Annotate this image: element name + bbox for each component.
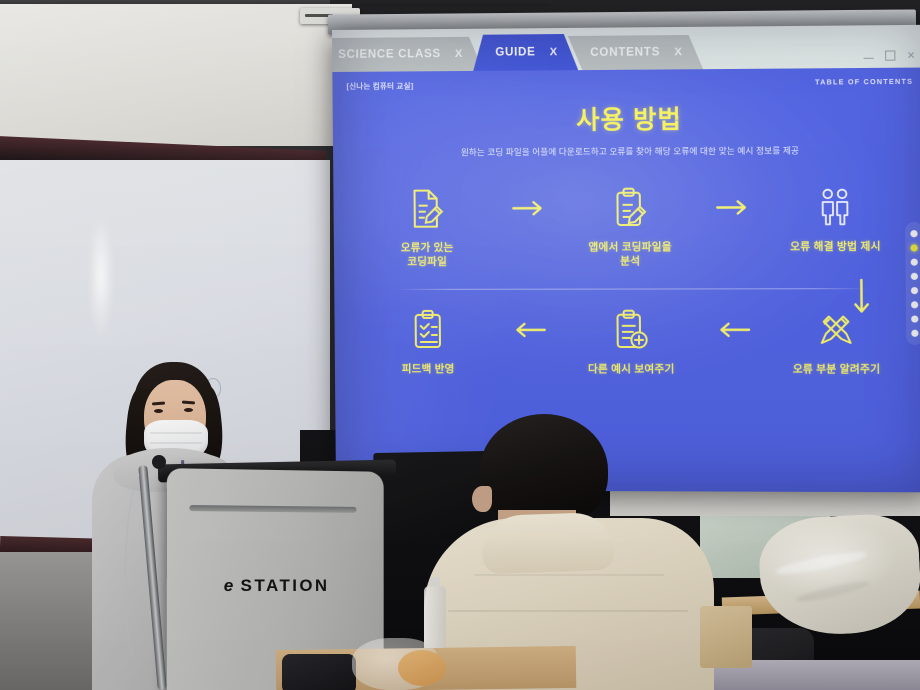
step-suggest-solution: 오류 해결 방법 제시 — [774, 180, 896, 254]
step-error-coding-file: 오류가 있는코딩파일 — [367, 182, 486, 269]
slide-subtitle: 원하는 코딩 파일을 어플에 다운로드하고 오류를 찾아 해당 오류에 대한 맞… — [333, 144, 920, 159]
step-apply-feedback: 피드백 반영 — [368, 304, 487, 376]
step-apply-feedback-label: 피드백 반영 — [369, 362, 488, 376]
tab-guide-label: GUIDE — [495, 46, 535, 58]
step-suggest-solution-label: 오류 해결 방법 제시 — [775, 239, 896, 254]
dot-2-active[interactable] — [910, 244, 917, 251]
tab-contents[interactable]: CONTENTS X — [568, 35, 703, 70]
step-analyze-in-app: 앱에서 코딩파일을분석 — [570, 181, 691, 268]
tab-contents-label: CONTENTS — [590, 46, 660, 59]
dot-4[interactable] — [911, 273, 918, 280]
step-point-out-error: 오류 부분 알려주기 — [775, 304, 897, 377]
step-show-other-examples: 다른 예시 보여주기 — [571, 304, 691, 377]
app-window: SCIENCE CLASS X GUIDE X CONTENTS X × [신나… — [332, 25, 920, 493]
window-controls: × — [864, 48, 920, 68]
arrow-right-1-icon — [506, 182, 551, 234]
slide-guide: [신나는 컴퓨터 교실] TABLE OF CONTENTS 사용 방법 원하는… — [332, 67, 920, 492]
slide-title: 사용 방법 — [333, 98, 920, 138]
dot-3[interactable] — [911, 259, 918, 266]
arrow-left-1-icon — [507, 304, 552, 356]
close-icon[interactable]: × — [907, 48, 915, 61]
dot-8[interactable] — [911, 330, 918, 337]
process-flow-diagram: 오류가 있는코딩파일 — [333, 180, 920, 377]
two-people-icon — [774, 180, 896, 233]
whiteboard-glare — [88, 212, 114, 340]
arrow-down-icon — [853, 278, 870, 324]
arrow-right-2-icon — [709, 181, 754, 234]
clipboard-pencil-icon — [570, 181, 690, 234]
slide-dot-navigation[interactable] — [905, 222, 920, 345]
step-analyze-in-app-label: 앱에서 코딩파일을분석 — [570, 240, 690, 269]
arrow-left-2-icon — [710, 304, 755, 357]
whiteboard — [0, 160, 330, 550]
floor-left — [0, 552, 300, 690]
dot-1[interactable] — [910, 230, 917, 237]
maximize-icon[interactable] — [885, 50, 895, 60]
slide-kicker: [신나는 컴퓨터 교실] — [346, 80, 413, 91]
flow-row-top: 오류가 있는코딩파일 — [367, 180, 896, 269]
document-pencil-icon — [367, 182, 486, 235]
tab-science-class-label: SCIENCE CLASS — [338, 48, 441, 61]
dot-7[interactable] — [911, 315, 918, 322]
dot-6[interactable] — [911, 301, 918, 308]
clipboard-check-icon — [368, 304, 487, 356]
tab-science-class-close-icon[interactable]: X — [455, 48, 463, 60]
step-point-out-error-label: 오류 부분 알려주기 — [776, 363, 897, 377]
dot-5[interactable] — [911, 287, 918, 294]
clipboard-plus-icon — [571, 304, 691, 357]
tab-contents-close-icon[interactable]: X — [674, 46, 682, 58]
step-error-coding-file-label: 오류가 있는코딩파일 — [368, 241, 487, 270]
flow-row-bottom: 피드백 반영 — [368, 304, 897, 377]
green-chalkboard — [700, 516, 830, 578]
slide-header: [신나는 컴퓨터 교실] TABLE OF CONTENTS — [332, 67, 920, 92]
minimize-icon[interactable] — [864, 52, 874, 58]
tab-guide[interactable]: GUIDE X — [473, 34, 578, 71]
table-of-contents-label[interactable]: TABLE OF CONTENTS — [815, 79, 913, 87]
step-show-other-examples-label: 다른 예시 보여주기 — [571, 362, 691, 376]
tab-science-class[interactable]: SCIENCE CLASS X — [332, 37, 483, 72]
tab-guide-close-icon[interactable]: X — [550, 46, 558, 58]
projection-screen: SCIENCE CLASS X GUIDE X CONTENTS X × [신나… — [332, 25, 920, 493]
left-wall — [0, 4, 352, 146]
pencil-ruler-icon — [775, 304, 897, 357]
flow-divider — [394, 288, 869, 290]
browser-tab-bar: SCIENCE CLASS X GUIDE X CONTENTS X × — [332, 25, 920, 72]
